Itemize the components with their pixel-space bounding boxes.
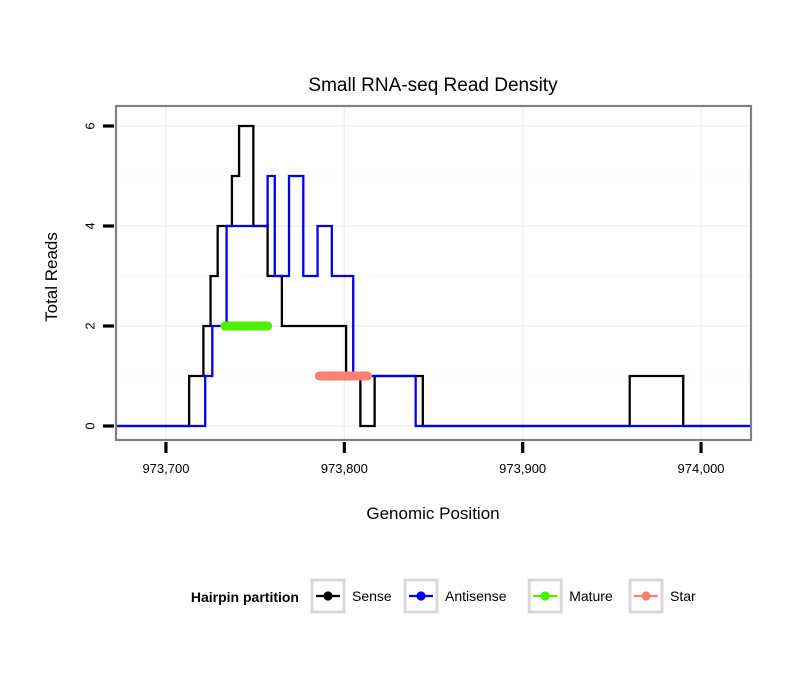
plot-panel bbox=[116, 106, 751, 440]
y-tick-label: 0 bbox=[83, 422, 98, 429]
legend-key-point-icon bbox=[416, 591, 425, 600]
legend-entry-label: Sense bbox=[352, 588, 392, 604]
y-tick-label: 6 bbox=[83, 122, 98, 129]
y-tick-label: 2 bbox=[83, 322, 98, 329]
chart-title: Small RNA-seq Read Density bbox=[308, 75, 558, 96]
chart-figure: Small RNA-seq Read Density 973,700973,80… bbox=[0, 0, 810, 690]
x-tick-label: 973,800 bbox=[321, 461, 368, 476]
y-tick-label: 4 bbox=[83, 222, 98, 229]
legend-title: Hairpin partition bbox=[191, 589, 299, 605]
x-tick-label: 973,700 bbox=[142, 461, 189, 476]
x-tick-label: 973,900 bbox=[499, 461, 546, 476]
legend-entry-label: Mature bbox=[569, 588, 613, 604]
legend-entry-label: Antisense bbox=[445, 588, 507, 604]
legend-key-point-icon bbox=[541, 591, 550, 600]
x-axis-title: Genomic Position bbox=[366, 504, 499, 523]
legend-key-point-icon bbox=[641, 591, 650, 600]
y-axis-title: Total Reads bbox=[42, 232, 61, 322]
plot-background bbox=[116, 106, 751, 440]
legend-key-point-icon bbox=[323, 591, 332, 600]
legend-entry-label: Star bbox=[670, 588, 696, 604]
x-tick-label: 974,000 bbox=[678, 461, 725, 476]
